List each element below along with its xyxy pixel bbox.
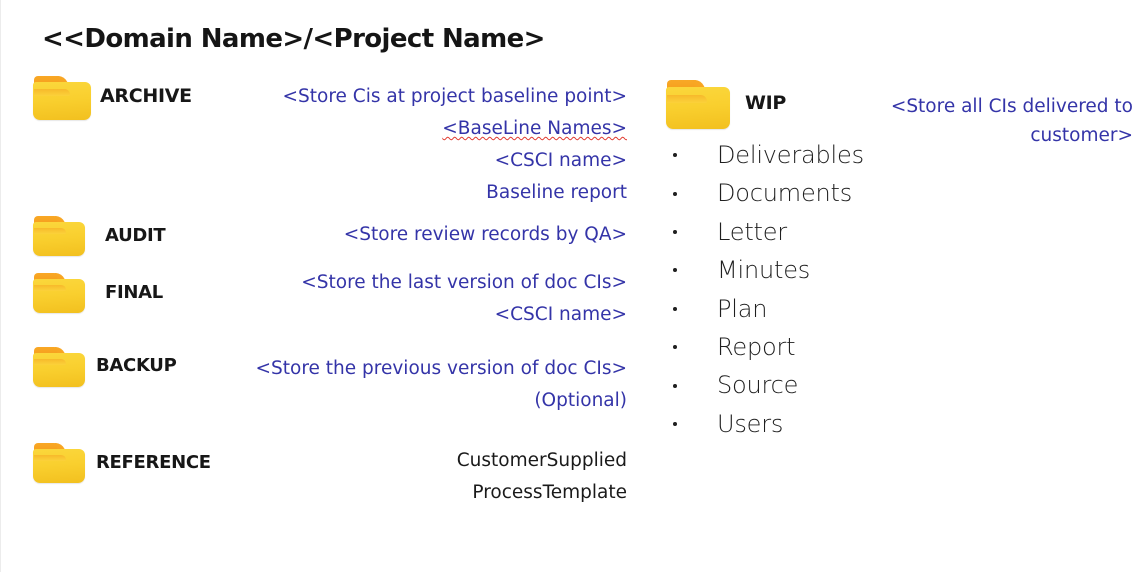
folder-label-reference: REFERENCE — [96, 452, 211, 473]
folder-lip — [34, 359, 66, 365]
spellcheck-underlined-text: <BaseLine Names> — [442, 118, 627, 139]
description-line: <CSCI name> — [207, 299, 627, 331]
description-backup: <Store the previous version of doc CIs> … — [207, 353, 627, 417]
description-line: <Store Cis at project baseline point> — [207, 81, 627, 113]
folder-icon-reference — [33, 443, 85, 483]
description-line: <Store the last version of doc CIs> — [207, 267, 627, 299]
description-reference: CustomerSupplied ProcessTemplate — [207, 445, 627, 509]
list-item: Plan — [665, 290, 864, 328]
description-line: (Optional) — [207, 385, 627, 417]
folder-lip — [667, 95, 707, 103]
list-item: Minutes — [665, 251, 864, 289]
description-wip: <Store all CIs delivered to customer> — [841, 92, 1133, 150]
description-line: ProcessTemplate — [207, 477, 627, 509]
folder-structure-diagram: <<Domain Name>/<Project Name> ARCHIVE <S… — [0, 0, 1147, 572]
description-final: <Store the last version of doc CIs> <CSC… — [207, 267, 627, 331]
description-line: <Store review records by QA> — [207, 219, 627, 251]
list-item: Deliverables — [665, 136, 864, 174]
folder-label-audit: AUDIT — [105, 225, 165, 246]
folder-lip — [34, 285, 66, 291]
description-line-misspelled: <BaseLine Names> — [207, 113, 627, 145]
wip-subfolder-list: Deliverables Documents Letter Minutes Pl… — [665, 136, 864, 443]
list-item: Documents — [665, 174, 864, 212]
folder-icon-audit — [33, 216, 85, 256]
folder-icon-wip — [666, 80, 730, 129]
folder-icon-archive — [33, 76, 91, 120]
folder-lip — [34, 228, 66, 234]
folder-body — [33, 353, 85, 387]
folder-label-backup: BACKUP — [96, 355, 177, 376]
folder-body — [33, 82, 91, 120]
description-line: <Store the previous version of doc CIs> — [207, 353, 627, 385]
folder-label-final: FINAL — [105, 282, 163, 303]
folder-label-wip: WIP — [745, 92, 786, 114]
description-archive: <Store Cis at project baseline point> <B… — [207, 81, 627, 209]
page-title: <<Domain Name>/<Project Name> — [42, 24, 545, 54]
list-item: Users — [665, 405, 864, 443]
folder-body — [33, 222, 85, 256]
folder-lip — [34, 89, 70, 96]
description-line: CustomerSupplied — [207, 445, 627, 477]
folder-body — [33, 279, 85, 313]
folder-icon-final — [33, 273, 85, 313]
list-item: Letter — [665, 213, 864, 251]
description-line: Baseline report — [207, 177, 627, 209]
list-item: Source — [665, 366, 864, 404]
list-item: Report — [665, 328, 864, 366]
folder-icon-backup — [33, 347, 85, 387]
folder-body — [33, 449, 85, 483]
folder-lip — [34, 455, 66, 461]
description-audit: <Store review records by QA> — [207, 219, 627, 251]
folder-label-archive: ARCHIVE — [100, 85, 192, 107]
folder-body — [666, 87, 730, 129]
description-line: <CSCI name> — [207, 145, 627, 177]
